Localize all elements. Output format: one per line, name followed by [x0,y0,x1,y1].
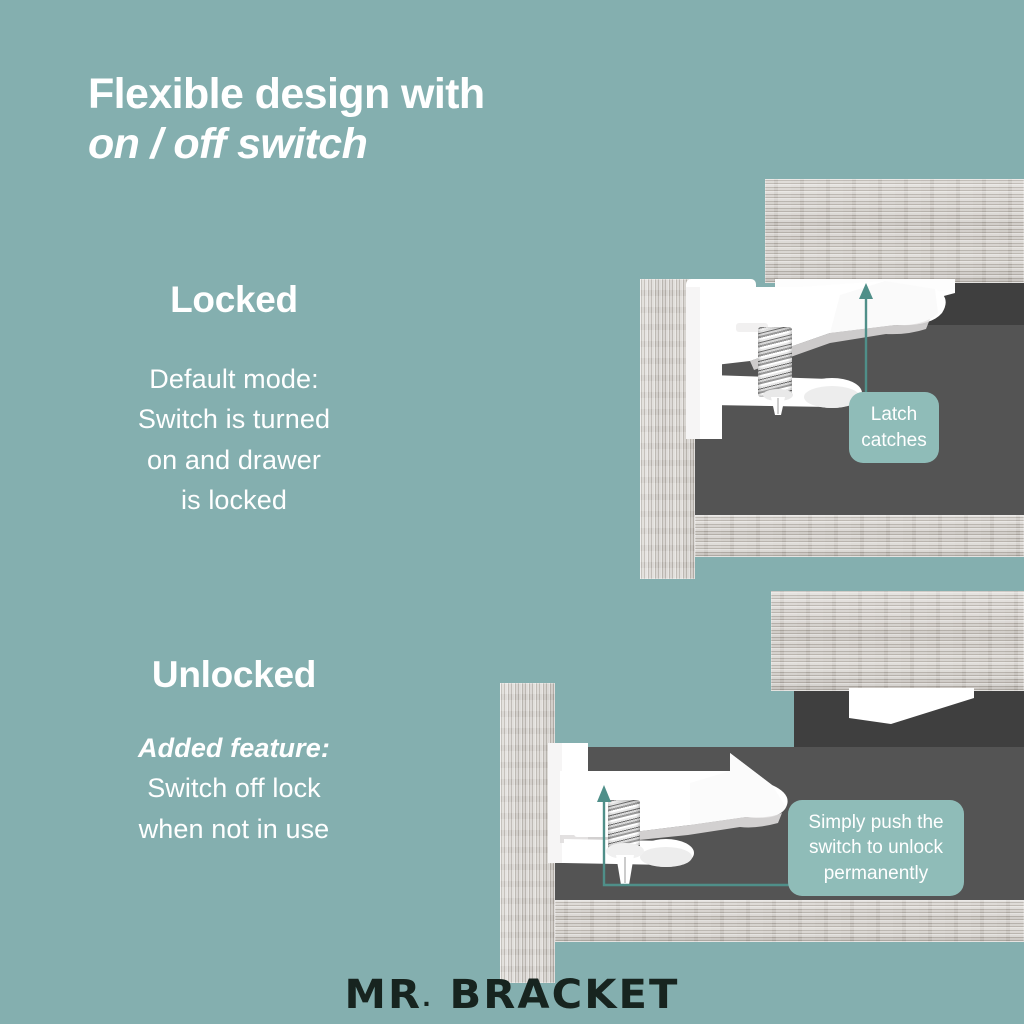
drawer-panel-top [765,179,1024,283]
section-unlocked: Unlocked Added feature: Switch off lock … [54,655,414,849]
callout-latch-catches-text: Latch catches [861,402,927,453]
headline-line-1: Flexible design with [88,70,608,118]
section-unlocked-body-line-1: Switch off lock [147,773,321,803]
drawer-panel-bottom [771,591,1024,691]
latch-catch-plate-bottom [849,688,974,734]
section-locked-body-line-2: Switch is turned [138,404,330,434]
brand-logo-dot: . [422,987,433,1012]
diagram-unlocked [494,585,1024,980]
callout-push-switch: Simply push the switch to unlock permane… [788,800,964,896]
latch-spring-locked [758,327,792,397]
section-unlocked-lead: Added feature: [54,728,414,769]
section-locked-title: Locked [54,280,414,321]
cabinet-bottom-rail-top [695,515,1024,557]
brand-logo-mr: MR [344,972,422,1018]
brand-logo: MR. BRACKET [0,972,1024,1018]
section-locked: Locked Default mode: Switch is turned on… [54,280,414,521]
cabinet-bottom-rail-bottom [555,900,1024,942]
section-unlocked-body-line-2: when not in use [139,814,330,844]
section-unlocked-body: Added feature: Switch off lock when not … [54,728,414,850]
section-unlocked-title: Unlocked [54,655,414,696]
latch-pin-locked [762,389,794,417]
infographic-canvas: Flexible design with on / off switch [0,0,1024,1024]
section-locked-body-line-4: is locked [181,485,287,515]
callout-latch-catches: Latch catches [849,392,939,463]
brand-logo-bracket: BRACKET [449,972,679,1018]
diagram-locked [636,175,1024,585]
headline: Flexible design with on / off switch [88,70,608,168]
section-locked-body-line-3: on and drawer [147,445,321,475]
section-locked-body: Default mode: Switch is turned on and dr… [54,359,414,521]
section-locked-body-line-1: Default mode: [149,364,318,394]
callout-push-switch-text: Simply push the switch to unlock permane… [800,810,952,887]
headline-line-2: on / off switch [88,120,608,168]
